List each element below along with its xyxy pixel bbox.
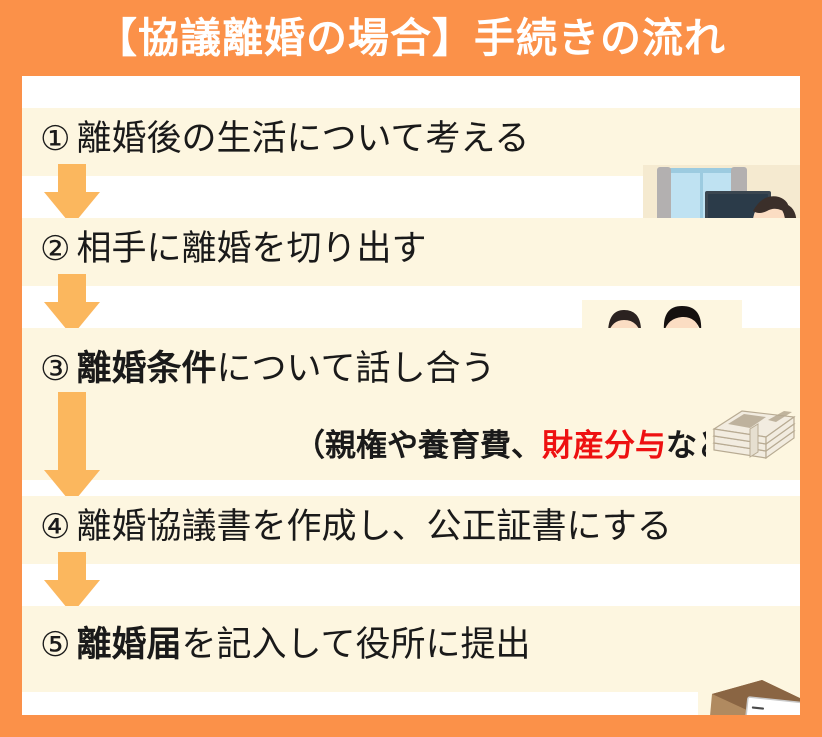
step-5-text: ⑤離婚届を記入して役所に提出 (40, 626, 530, 665)
step-row-4: ④離婚協議書を作成し、公正証書にする (22, 496, 800, 564)
step-5-number: ⑤ (40, 626, 70, 664)
step-3-text: ③離婚条件について話し合う (40, 350, 495, 389)
step-row-3: ③離婚条件について話し合う （親権や養育費、財産分与など） (22, 328, 800, 480)
step-2-label: 相手に離婚を切り出す (76, 229, 426, 268)
money-bundles-illustration (706, 409, 800, 465)
step-4-text: ④離婚協議書を作成し、公正証書にする (40, 508, 672, 547)
step-5-label: を記入して役所に提出 (182, 625, 531, 664)
step-5-emphasis: 離婚届 (76, 625, 181, 664)
step-row-5: ⑤離婚届を記入して役所に提出 (22, 606, 800, 692)
flow-arrow-4 (44, 552, 100, 612)
flow-arrow-3 (44, 392, 100, 502)
step-1-label: 離婚後の生活について考える (76, 119, 529, 158)
envelope-document-illustration (698, 676, 800, 715)
step-row-2: ②相手に離婚を切り出す (22, 218, 800, 286)
step-3-emphasis: 離婚条件 (76, 349, 216, 388)
step-4-label: 離婚協議書を作成し、公正証書にする (76, 507, 671, 546)
step-2-text: ②相手に離婚を切り出す (40, 230, 427, 269)
flow-arrow-2 (44, 274, 100, 334)
step-3-number: ③ (40, 350, 70, 388)
step-4-number: ④ (40, 508, 70, 546)
step-1-text: ①離婚後の生活について考える (40, 120, 529, 159)
infographic-poster: 【協議離婚の場合】手続きの流れ ①離婚後の生活について考える (0, 0, 822, 737)
step-3-label: について話し合う (217, 349, 496, 388)
step-3-subnote-highlight: 財産分与 (542, 428, 666, 463)
poster-title-bar: 【協議離婚の場合】手続きの流れ (0, 0, 822, 76)
step-3-subnote-open: （親権や養育費、 (294, 428, 542, 463)
steps-panel: ①離婚後の生活について考える (22, 76, 800, 715)
step-2-number: ② (40, 230, 70, 268)
flow-arrow-1 (44, 164, 100, 224)
page-title: 【協議離婚の場合】手続きの流れ (96, 18, 726, 59)
step-3-subnote: （親権や養育費、財産分与など） (294, 420, 759, 465)
step-1-number: ① (40, 120, 70, 158)
